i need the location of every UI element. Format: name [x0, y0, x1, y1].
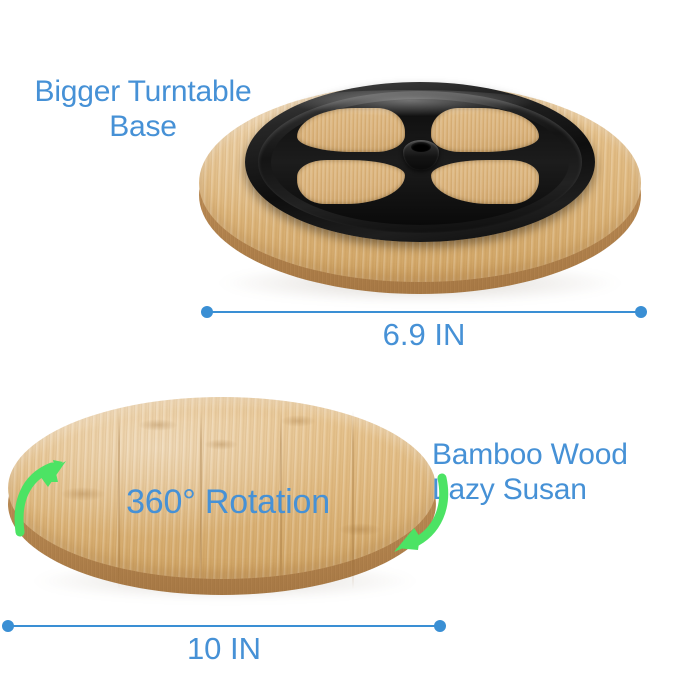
turntable-hub-hole — [411, 142, 431, 152]
callout-360-rotation: 360° Rotation — [78, 482, 378, 522]
curved-arrow-up-icon — [14, 448, 84, 538]
bamboo-grain-mark — [338, 523, 382, 536]
black-turntable-bearing — [245, 82, 595, 242]
bamboo-grain-mark — [138, 419, 178, 431]
bamboo-grain-mark — [204, 439, 238, 450]
dimension-label-lazy-susan: 10 IN — [2, 631, 446, 667]
callout-bigger-turntable-base: Bigger Turntable Base — [8, 74, 278, 145]
dimension-rule — [8, 625, 440, 627]
bamboo-grain-mark — [280, 415, 316, 427]
curved-arrow-down-icon — [380, 470, 450, 560]
product-infographic: Bigger Turntable Base 6.9 IN — [0, 0, 679, 688]
dimension-label-turntable: 6.9 IN — [201, 317, 647, 353]
callout-bamboo-wood-lazy-susan: Bamboo Wood Lazy Susan — [432, 437, 679, 508]
dimension-rule — [207, 311, 641, 313]
